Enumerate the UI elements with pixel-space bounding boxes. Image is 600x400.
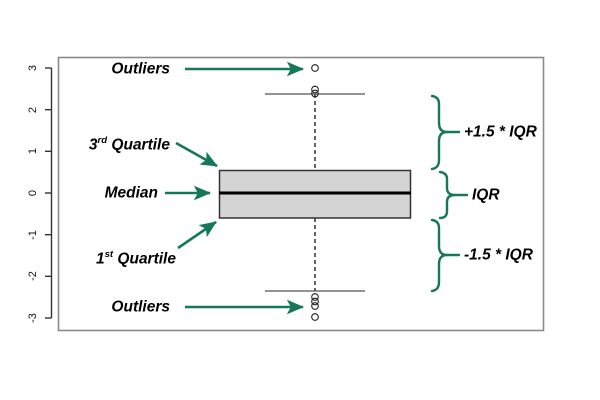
label-lower-iqr: -1.5 * IQR [464, 247, 533, 263]
third-quartile-ordinal-suffix: rd [98, 135, 108, 146]
first-quartile-ordinal-suffix: st [105, 249, 114, 260]
y-tick-label-minus-1: -1 [27, 230, 39, 240]
y-tick-label-1: 1 [27, 148, 39, 154]
label-first-quartile: 1st Quartile [96, 251, 176, 267]
label-upper-iqr: +1.5 * IQR [464, 124, 537, 140]
boxplot-diagram: 3 2 1 0 -1 -2 -3 Outliers 3rd Quartile M… [0, 0, 600, 400]
y-tick-label-0: 0 [27, 190, 39, 196]
brace-iqr [440, 172, 455, 218]
y-axis-ticks [45, 68, 52, 318]
brace-lower-iqr [432, 220, 447, 291]
arrow-first-quartile [178, 222, 216, 248]
first-quartile-word: Quartile [113, 250, 176, 267]
upper-outlier-points [312, 65, 319, 97]
label-median: Median [105, 185, 158, 201]
y-tick-label-3: 3 [27, 65, 39, 71]
y-tick-label-minus-3: -3 [27, 313, 39, 323]
label-outliers-bottom: Outliers [111, 299, 170, 315]
boxplot-glyph [219, 65, 411, 321]
brace-upper-iqr [432, 96, 447, 169]
iqr-braces [432, 96, 467, 291]
lower-outlier-points [312, 294, 319, 321]
first-quartile-number: 1 [96, 250, 105, 267]
third-quartile-number: 3 [89, 136, 98, 153]
third-quartile-word: Quartile [107, 136, 170, 153]
label-iqr: IQR [472, 187, 500, 203]
y-tick-label-2: 2 [27, 107, 39, 113]
arrow-third-quartile [176, 143, 217, 166]
y-tick-label-minus-2: -2 [27, 271, 39, 281]
label-third-quartile: 3rd Quartile [89, 137, 170, 153]
label-outliers-top: Outliers [111, 61, 170, 77]
boxplot-canvas [0, 0, 600, 400]
